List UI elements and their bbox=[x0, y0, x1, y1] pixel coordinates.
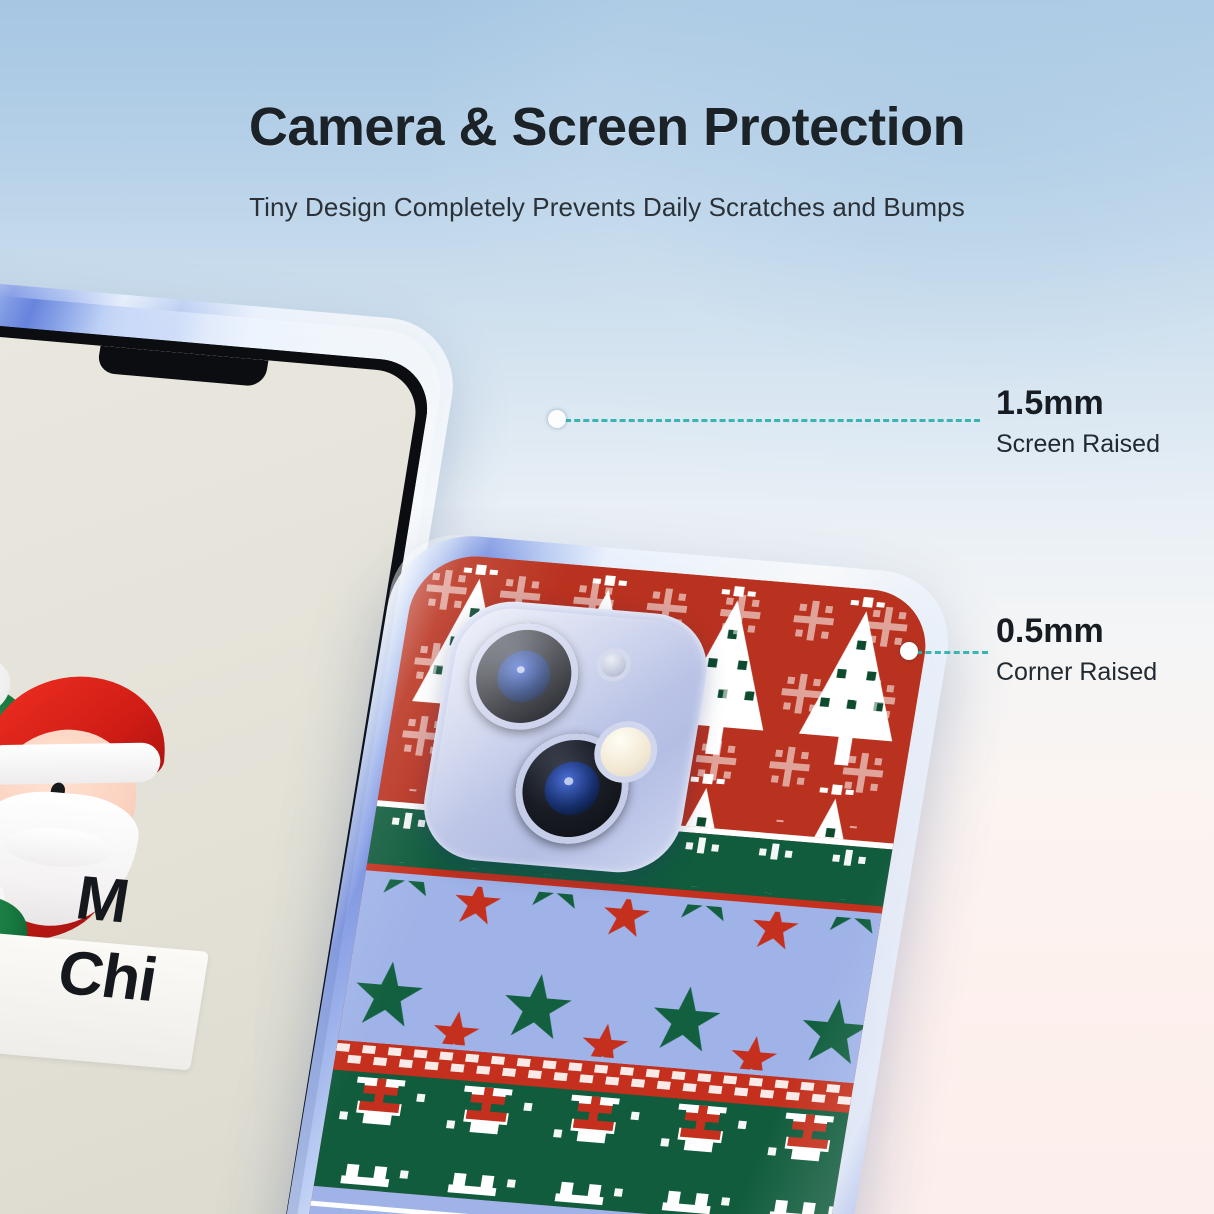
page-title: Camera & Screen Protection bbox=[0, 96, 1214, 158]
camera-lens-ultrawide bbox=[507, 729, 637, 849]
page-subtitle: Tiny Design Completely Prevents Daily Sc… bbox=[0, 192, 1214, 223]
camera-lens-highlight bbox=[516, 665, 525, 673]
notch bbox=[96, 346, 268, 387]
leader-endpoint-screen-raised bbox=[548, 410, 566, 428]
camera-lens-glass bbox=[494, 649, 554, 704]
callout-caption: Corner Raised bbox=[996, 656, 1157, 689]
microphone-icon bbox=[594, 647, 634, 683]
camera-lens-wide bbox=[461, 619, 587, 735]
product-marketing-image: M Chi bbox=[0, 0, 1214, 1214]
callout-caption: Screen Raised bbox=[996, 428, 1160, 461]
santa-hat-band bbox=[0, 742, 161, 784]
leader-line-screen-raised bbox=[556, 419, 980, 422]
camera-flash bbox=[590, 719, 662, 785]
callout-value: 1.5mm bbox=[996, 386, 1160, 422]
callout-screen-raised: 1.5mm Screen Raised bbox=[996, 386, 1160, 460]
callout-corner-raised: 0.5mm Corner Raised bbox=[996, 614, 1157, 688]
callout-value: 0.5mm bbox=[996, 614, 1157, 650]
wallpaper-greeting-line1: M bbox=[71, 861, 174, 944]
camera-lens-highlight bbox=[564, 777, 574, 785]
leader-endpoint-corner-raised bbox=[900, 642, 918, 660]
camera-module bbox=[415, 597, 716, 877]
leader-line-corner-raised bbox=[916, 651, 988, 654]
wallpaper-greeting-line2: Chi bbox=[53, 935, 162, 1018]
camera-lens-glass bbox=[541, 760, 604, 818]
